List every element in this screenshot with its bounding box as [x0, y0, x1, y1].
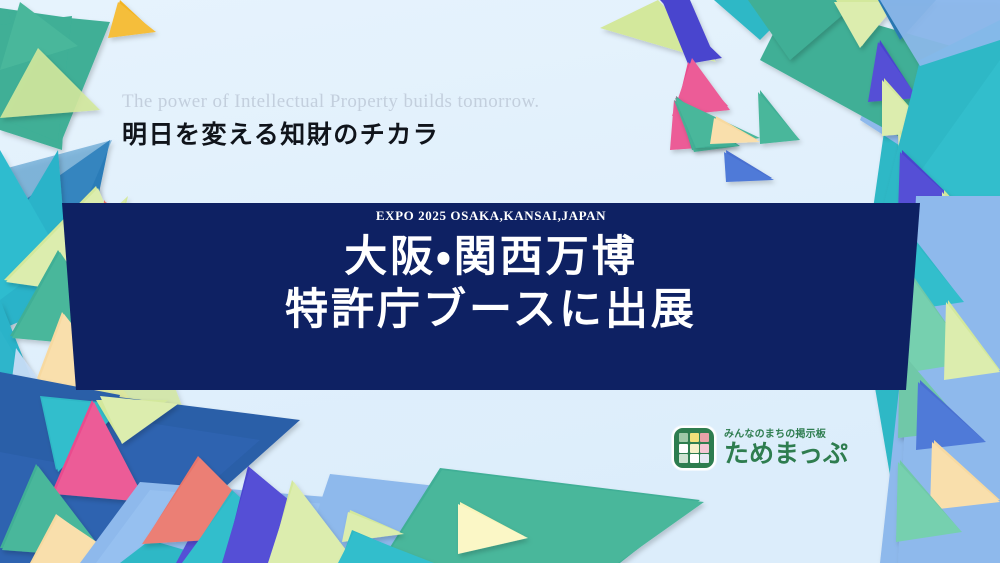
logo-tile: [700, 433, 709, 442]
banner-stage: The power of Intellectual Property build…: [0, 0, 1000, 563]
logo-tile: [679, 454, 688, 463]
tagline-block: The power of Intellectual Property build…: [122, 90, 642, 152]
logo-tile: [700, 444, 709, 453]
banner-headline-line1: 大阪・関西万博: [344, 232, 638, 283]
logo-tile: [700, 454, 709, 463]
banner-content: EXPO 2025 OSAKA,KANSAI,JAPAN 大阪・関西万博 特許庁…: [62, 196, 920, 396]
banner-headline-line2: 特許庁ブースに出展: [285, 285, 697, 336]
logo-brand-name: ためまっぷ: [724, 441, 848, 467]
logo-tile: [679, 433, 688, 442]
tagline-japanese: 明日を変える知財のチカラ: [122, 118, 642, 152]
logo-tile: [690, 444, 699, 453]
tagline-english: The power of Intellectual Property build…: [122, 90, 642, 114]
logo-tile: [690, 454, 699, 463]
expo-eyebrow-text: EXPO 2025 OSAKA,KANSAI,JAPAN: [376, 208, 606, 224]
bulletin-board-icon: [672, 426, 716, 470]
logo-tile: [679, 444, 688, 453]
tamemap-logo[interactable]: みんなのまちの掲示板 ためまっぷ: [672, 420, 842, 476]
logo-tile: [690, 433, 699, 442]
expo-banner: EXPO 2025 OSAKA,KANSAI,JAPAN 大阪・関西万博 特許庁…: [0, 196, 1000, 396]
logo-text-group: みんなのまちの掲示板 ためまっぷ: [724, 429, 848, 467]
